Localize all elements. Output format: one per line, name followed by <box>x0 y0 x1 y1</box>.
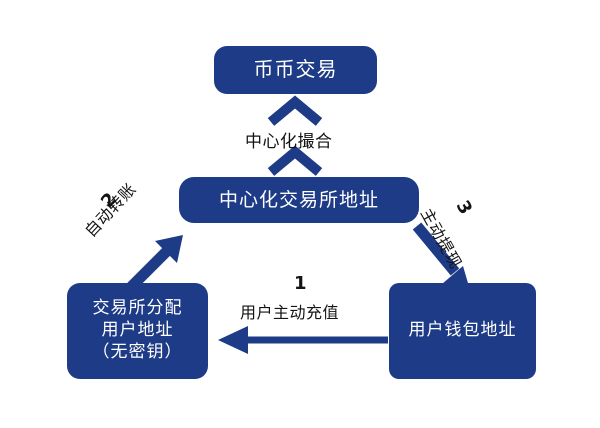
node-exchange-address-label: 中心化交易所地址 <box>219 188 379 212</box>
node-user-wallet-address[interactable]: 用户钱包地址 <box>389 283 536 379</box>
edge-number-deposit: 1 <box>294 273 307 294</box>
node-exchange-address[interactable]: 中心化交易所地址 <box>179 177 419 223</box>
chevron-up-upper-icon <box>271 102 319 122</box>
node-coin-trading-label: 币币交易 <box>254 57 338 83</box>
diagram-canvas: 币币交易 中心化交易所地址 交易所分配 用户地址 （无密钥） 用户钱包地址 中心… <box>0 0 600 428</box>
node-assigned-user-address-line1: 交易所分配 <box>93 298 183 320</box>
arrow-auto-transfer <box>131 235 183 287</box>
node-user-wallet-address-label: 用户钱包地址 <box>409 320 517 342</box>
node-coin-trading[interactable]: 币币交易 <box>214 46 377 94</box>
edge-label-center-match: 中心化撮合 <box>245 127 333 152</box>
edge-label-deposit: 用户主动充值 <box>240 299 339 323</box>
chevron-up-lower-icon <box>271 152 319 172</box>
node-assigned-user-address-line2: 用户地址 <box>102 320 174 342</box>
node-assigned-user-address-line3: （无密钥） <box>93 342 183 364</box>
arrow-deposit <box>218 326 388 354</box>
node-assigned-user-address[interactable]: 交易所分配 用户地址 （无密钥） <box>67 283 208 379</box>
